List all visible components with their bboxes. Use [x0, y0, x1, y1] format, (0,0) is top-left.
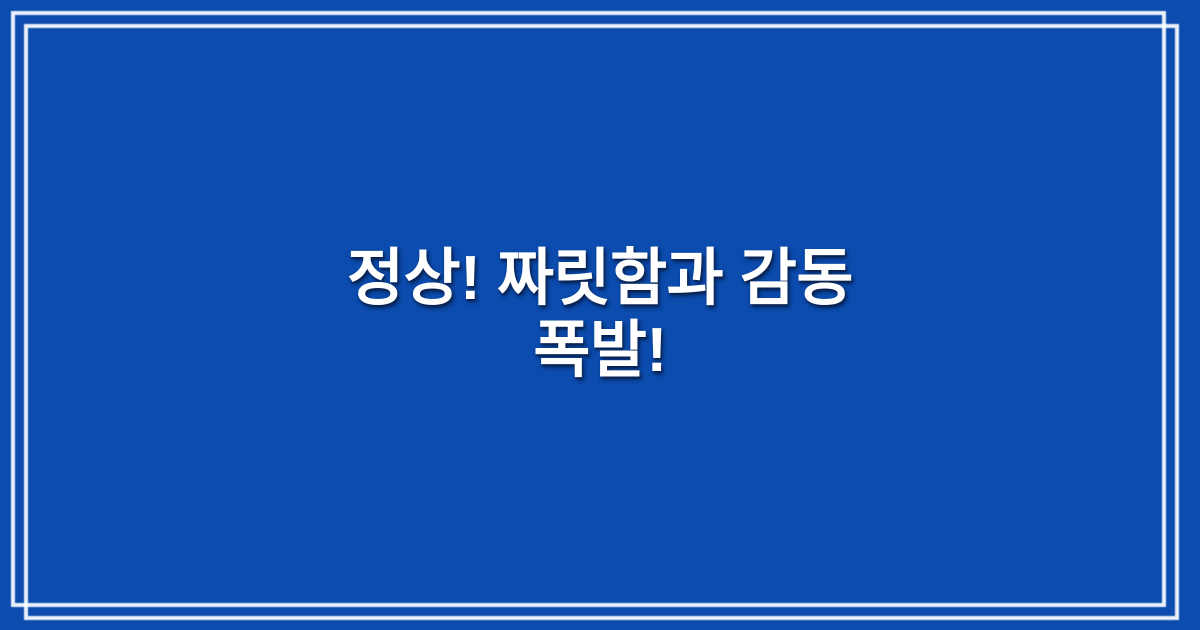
headline-container: 정상! 짜릿함과 감동 폭발! [0, 0, 1200, 630]
promo-banner: 정상! 짜릿함과 감동 폭발! [0, 0, 1200, 630]
banner-headline: 정상! 짜릿함과 감동 폭발! [220, 243, 980, 387]
